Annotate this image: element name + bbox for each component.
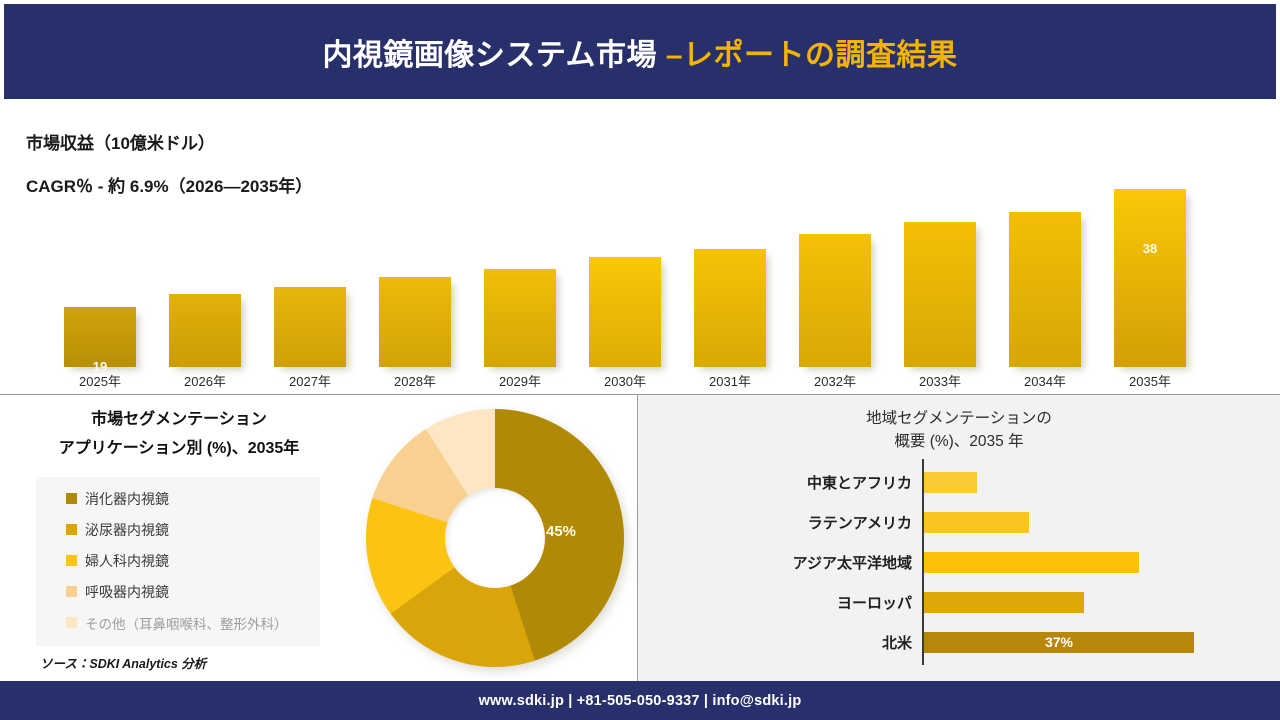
bar-shape: 19 — [64, 307, 136, 367]
revenue-bars-container: 192025年2026年2027年2028年2029年2030年2031年203… — [0, 99, 1280, 394]
page-title-accent: –レポートの調査結果 — [666, 39, 958, 72]
bar-category-label: 2031年 — [709, 371, 751, 390]
donut-hole — [445, 488, 545, 588]
legend-label: 呼吸器内視鏡 — [85, 582, 169, 602]
bar-shape — [169, 294, 241, 367]
page-title-main: 内視鏡画像システム市場 — [322, 39, 665, 72]
footer-banner: www.sdki.jp | +81-505-050-9337 | info@sd… — [0, 681, 1280, 720]
revenue-bar-2028年: 2028年 — [379, 277, 451, 367]
legend-label: その他（耳鼻咽喉科、整形外科） — [85, 613, 288, 633]
bar-category-label: 2030年 — [604, 371, 646, 390]
region-row-アジア太平洋地域: アジア太平洋地域 — [638, 543, 1280, 581]
bar-shape: 38 — [1114, 189, 1186, 367]
bar-category-label: 2027年 — [289, 371, 331, 390]
region-row-中東とアフリカ: 中東とアフリカ — [638, 463, 1280, 501]
bar-category-label: 2032年 — [814, 371, 856, 390]
revenue-bar-2029年: 2029年 — [484, 269, 556, 367]
legend-swatch-icon — [66, 586, 77, 597]
region-bar-shape — [924, 512, 1029, 533]
revenue-bar-2035年: 382035年 — [1114, 189, 1186, 367]
revenue-bar-2032年: 2032年 — [799, 234, 871, 367]
region-bar-shape: 37% — [924, 632, 1194, 653]
bar-shape — [694, 249, 766, 367]
bar-shape — [484, 269, 556, 367]
revenue-bar-2030年: 2030年 — [589, 257, 661, 367]
footer-contact: www.sdki.jp | +81-505-050-9337 | info@sd… — [479, 693, 802, 709]
legend-swatch-icon — [66, 617, 77, 628]
bar-shape — [904, 222, 976, 367]
region-category-label: 北米 — [882, 632, 912, 653]
legend-item-2: 婦人科内視鏡 — [36, 545, 320, 576]
legend-item-3: 呼吸器内視鏡 — [36, 576, 320, 607]
region-title-line1: 地域セグメンテーションの — [638, 407, 1280, 430]
bar-data-label: 38 — [1143, 241, 1157, 256]
region-category-label: ラテンアメリカ — [808, 512, 912, 533]
bar-category-label: 2033年 — [919, 371, 961, 390]
bar-shape — [589, 257, 661, 367]
revenue-bar-2033年: 2033年 — [904, 222, 976, 367]
region-title: 地域セグメンテーションの 概要 (%)、2035 年 — [638, 407, 1280, 453]
bar-shape — [1009, 212, 1081, 367]
segmentation-title-line2: アプリケーション別 (%)、2035年 — [14, 434, 344, 463]
donut-chart: 45% — [366, 409, 624, 667]
bar-category-label: 2034年 — [1024, 371, 1066, 390]
legend-swatch-icon — [66, 555, 77, 566]
region-category-label: ヨーロッパ — [837, 592, 912, 613]
legend-item-0: 消化器内視鏡 — [36, 483, 320, 514]
segmentation-legend: 消化器内視鏡泌尿器内視鏡婦人科内視鏡呼吸器内視鏡その他（耳鼻咽喉科、整形外科） — [36, 477, 320, 646]
application-segmentation-panel: 市場セグメンテーション アプリケーション別 (%)、2035年 消化器内視鏡泌尿… — [0, 395, 637, 681]
legend-label: 消化器内視鏡 — [85, 489, 169, 509]
bar-shape — [799, 234, 871, 367]
revenue-bar-2025年: 192025年 — [64, 307, 136, 367]
bar-category-label: 2035年 — [1129, 371, 1171, 390]
region-segmentation-panel: 地域セグメンテーションの 概要 (%)、2035 年 中東とアフリカラテンアメリ… — [638, 395, 1280, 681]
page-title: 内視鏡画像システム市場 –レポートの調査結果 — [322, 30, 957, 74]
header-banner: 内視鏡画像システム市場 –レポートの調査結果 — [4, 4, 1276, 99]
segmentation-title: 市場セグメンテーション アプリケーション別 (%)、2035年 — [14, 405, 344, 463]
legend-item-4: その他（耳鼻咽喉科、整形外科） — [36, 607, 320, 638]
legend-label: 泌尿器内視鏡 — [85, 520, 169, 540]
bar-shape — [274, 287, 346, 367]
revenue-bar-2027年: 2027年 — [274, 287, 346, 367]
bar-category-label: 2028年 — [394, 371, 436, 390]
region-bar-shape — [924, 592, 1084, 613]
bar-category-label: 2029年 — [499, 371, 541, 390]
region-bar-shape — [924, 472, 977, 493]
infographic-page: 内視鏡画像システム市場 –レポートの調査結果 市場収益（10億米ドル） CAGR… — [0, 0, 1280, 720]
legend-swatch-icon — [66, 493, 77, 504]
region-row-ラテンアメリカ: ラテンアメリカ — [638, 503, 1280, 541]
revenue-bar-2026年: 2026年 — [169, 294, 241, 367]
region-row-ヨーロッパ: ヨーロッパ — [638, 583, 1280, 621]
revenue-bar-2031年: 2031年 — [694, 249, 766, 367]
legend-swatch-icon — [66, 524, 77, 535]
region-data-label: 37% — [1045, 634, 1073, 650]
segmentation-title-line1: 市場セグメンテーション — [14, 405, 344, 434]
bar-category-label: 2026年 — [184, 371, 226, 390]
legend-item-1: 泌尿器内視鏡 — [36, 514, 320, 545]
region-bar-shape — [924, 552, 1139, 573]
region-row-北米: 北米37% — [638, 623, 1280, 661]
region-category-label: アジア太平洋地域 — [793, 552, 912, 573]
donut-data-label: 45% — [546, 523, 576, 540]
source-note: ソース：SDKI Analytics 分析 — [40, 653, 206, 672]
bar-shape — [379, 277, 451, 367]
revenue-bar-2034年: 2034年 — [1009, 212, 1081, 367]
region-title-line2: 概要 (%)、2035 年 — [638, 430, 1280, 453]
region-category-label: 中東とアフリカ — [807, 472, 912, 493]
bar-category-label: 2025年 — [79, 371, 121, 390]
region-bars-container: 中東とアフリカラテンアメリカアジア太平洋地域ヨーロッパ北米37% — [638, 457, 1280, 669]
revenue-chart-section: 市場収益（10億米ドル） CAGR％ - 約 6.9%（2026―2035年） … — [0, 99, 1280, 394]
legend-label: 婦人科内視鏡 — [85, 551, 169, 571]
